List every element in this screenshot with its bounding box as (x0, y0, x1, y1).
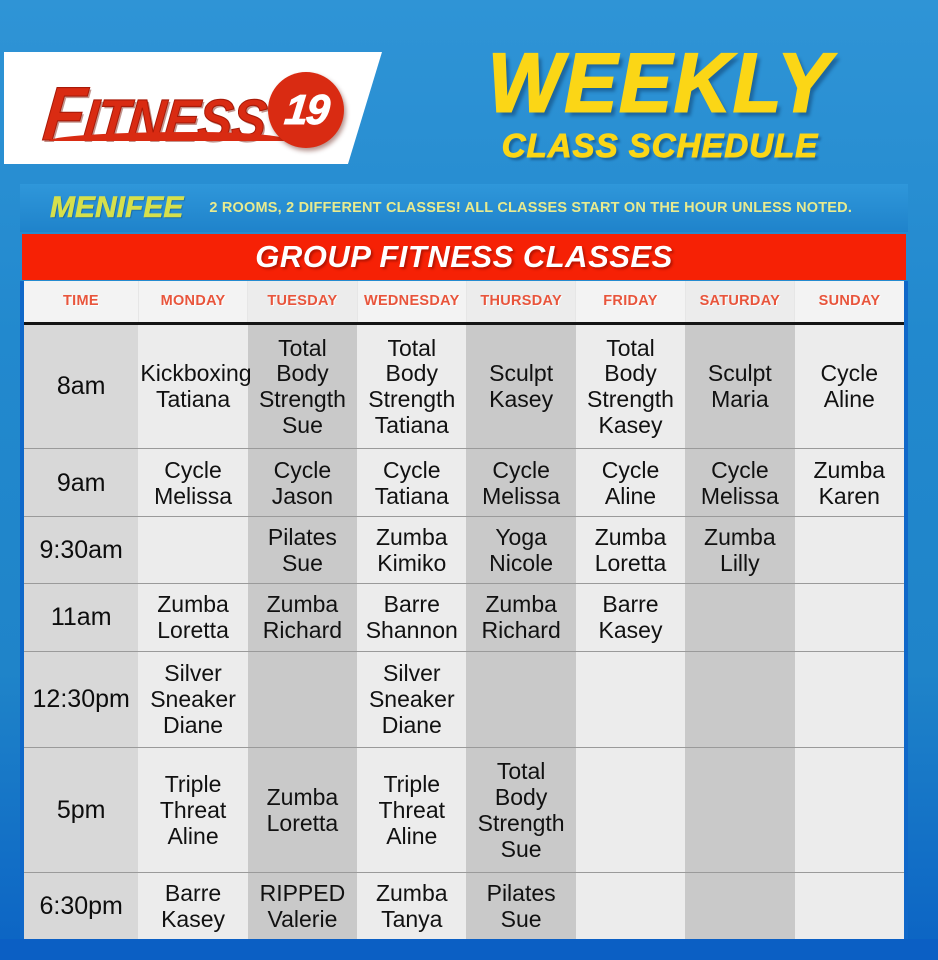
class-cell: BarreKasey (576, 584, 685, 651)
time-cell: 8am (24, 323, 138, 449)
schedule-table-head: TIMEMONDAYTUESDAYWEDNESDAYTHURSDAYFRIDAY… (24, 281, 904, 323)
class-cell: KickboxingTatiana (138, 323, 247, 449)
column-header-time: TIME (24, 281, 138, 323)
class-cell: Total BodyStrengthSue (248, 323, 357, 449)
class-cell: Total BodyStrengthTatiana (357, 323, 466, 449)
empty-cell (795, 516, 904, 583)
empty-cell (138, 516, 247, 583)
class-cell: SilverSneakerDiane (357, 651, 466, 747)
empty-cell (466, 651, 575, 747)
class-cell: BarreShannon (357, 584, 466, 651)
class-cell: PilatesSue (248, 516, 357, 583)
time-cell: 11am (24, 584, 138, 651)
class-cell: ZumbaLoretta (248, 747, 357, 872)
empty-cell (576, 747, 685, 872)
schedule-row: 6:30pmBarreKaseyRIPPEDValerieZumbaTanyaP… (24, 872, 904, 939)
column-header-sunday: SUNDAY (795, 281, 904, 323)
class-cell: Total BodyStrengthSue (466, 747, 575, 872)
schedule-table: TIMEMONDAYTUESDAYWEDNESDAYTHURSDAYFRIDAY… (24, 281, 904, 939)
class-cell: CycleMelissa (685, 449, 794, 516)
bottom-strip (0, 939, 938, 960)
class-cell: ZumbaLilly (685, 516, 794, 583)
logo-word-rest: ITNESS (80, 88, 269, 153)
time-cell: 12:30pm (24, 651, 138, 747)
location-name: MENIFEE (50, 191, 183, 225)
logo-number: 19 (282, 89, 329, 131)
title-block: WEEKLY CLASS SCHEDULE (400, 44, 920, 165)
schedule-row: 11amZumbaLorettaZumbaRichardBarreShannon… (24, 584, 904, 651)
schedule-row: 8amKickboxingTatianaTotal BodyStrengthSu… (24, 323, 904, 449)
class-cell: ZumbaRichard (466, 584, 575, 651)
class-cell: Total BodyStrengthKasey (576, 323, 685, 449)
column-header-monday: MONDAY (138, 281, 247, 323)
empty-cell (685, 651, 794, 747)
class-cell: SculptKasey (466, 323, 575, 449)
page-title: WEEKLY (400, 42, 920, 124)
schedule-row: 5pmTripleThreatAlineZumbaLorettaTripleTh… (24, 747, 904, 872)
group-fitness-classes-banner: GROUP FITNESS CLASSES (22, 234, 906, 280)
class-cell: ZumbaKimiko (357, 516, 466, 583)
flyer-header: FITNESS 19 WEEKLY CLASS SCHEDULE (0, 0, 938, 182)
location-note: 2 ROOMS, 2 DIFFERENT CLASSES! ALL CLASSE… (209, 200, 852, 216)
class-cell: ZumbaKaren (795, 449, 904, 516)
schedule-row: 12:30pmSilverSneakerDianeSilverSneakerDi… (24, 651, 904, 747)
class-cell: CycleJason (248, 449, 357, 516)
empty-cell (685, 584, 794, 651)
schedule-row: 9:30amPilatesSueZumbaKimikoYogaNicoleZum… (24, 516, 904, 583)
empty-cell (795, 584, 904, 651)
class-cell: ZumbaLoretta (138, 584, 247, 651)
schedule-table-container: TIMEMONDAYTUESDAYWEDNESDAYTHURSDAYFRIDAY… (20, 281, 908, 939)
column-header-tuesday: TUESDAY (248, 281, 357, 323)
class-cell: ZumbaTanya (357, 872, 466, 939)
schedule-row: 9amCycleMelissaCycleJasonCycleTatianaCyc… (24, 449, 904, 516)
time-cell: 6:30pm (24, 872, 138, 939)
fitness19-logo-banner: FITNESS 19 (4, 52, 382, 164)
class-cell: CycleMelissa (138, 449, 247, 516)
page-subtitle: CLASS SCHEDULE (400, 127, 920, 165)
class-cell: CycleAline (576, 449, 685, 516)
class-cell: CycleAline (795, 323, 904, 449)
weekly-class-schedule-flyer: { "brand": { "logo_word_first_letter": "… (0, 0, 938, 960)
class-cell: CycleTatiana (357, 449, 466, 516)
class-cell: ZumbaRichard (248, 584, 357, 651)
empty-cell (685, 747, 794, 872)
class-cell: BarreKasey (138, 872, 247, 939)
logo-19-badge: 19 (268, 72, 344, 148)
time-cell: 9am (24, 449, 138, 516)
class-cell: PilatesSue (466, 872, 575, 939)
class-cell: TripleThreatAline (138, 747, 247, 872)
empty-cell (685, 872, 794, 939)
empty-cell (576, 651, 685, 747)
column-header-saturday: SATURDAY (685, 281, 794, 323)
class-cell: YogaNicole (466, 516, 575, 583)
schedule-table-body: 8amKickboxingTatianaTotal BodyStrengthSu… (24, 323, 904, 939)
empty-cell (248, 651, 357, 747)
column-header-wednesday: WEDNESDAY (357, 281, 466, 323)
empty-cell (795, 747, 904, 872)
empty-cell (576, 872, 685, 939)
class-cell: RIPPEDValerie (248, 872, 357, 939)
logo-inner: FITNESS 19 (48, 70, 348, 148)
empty-cell (795, 651, 904, 747)
column-header-friday: FRIDAY (576, 281, 685, 323)
section-banner-label: GROUP FITNESS CLASSES (255, 239, 673, 275)
column-header-thursday: THURSDAY (466, 281, 575, 323)
location-bar: MENIFEE 2 ROOMS, 2 DIFFERENT CLASSES! AL… (20, 184, 908, 232)
day-header-row: TIMEMONDAYTUESDAYWEDNESDAYTHURSDAYFRIDAY… (24, 281, 904, 323)
class-cell: CycleMelissa (466, 449, 575, 516)
class-cell: ZumbaLoretta (576, 516, 685, 583)
time-cell: 9:30am (24, 516, 138, 583)
class-cell: TripleThreatAline (357, 747, 466, 872)
time-cell: 5pm (24, 747, 138, 872)
class-cell: SculptMaria (685, 323, 794, 449)
empty-cell (795, 872, 904, 939)
class-cell: SilverSneakerDiane (138, 651, 247, 747)
